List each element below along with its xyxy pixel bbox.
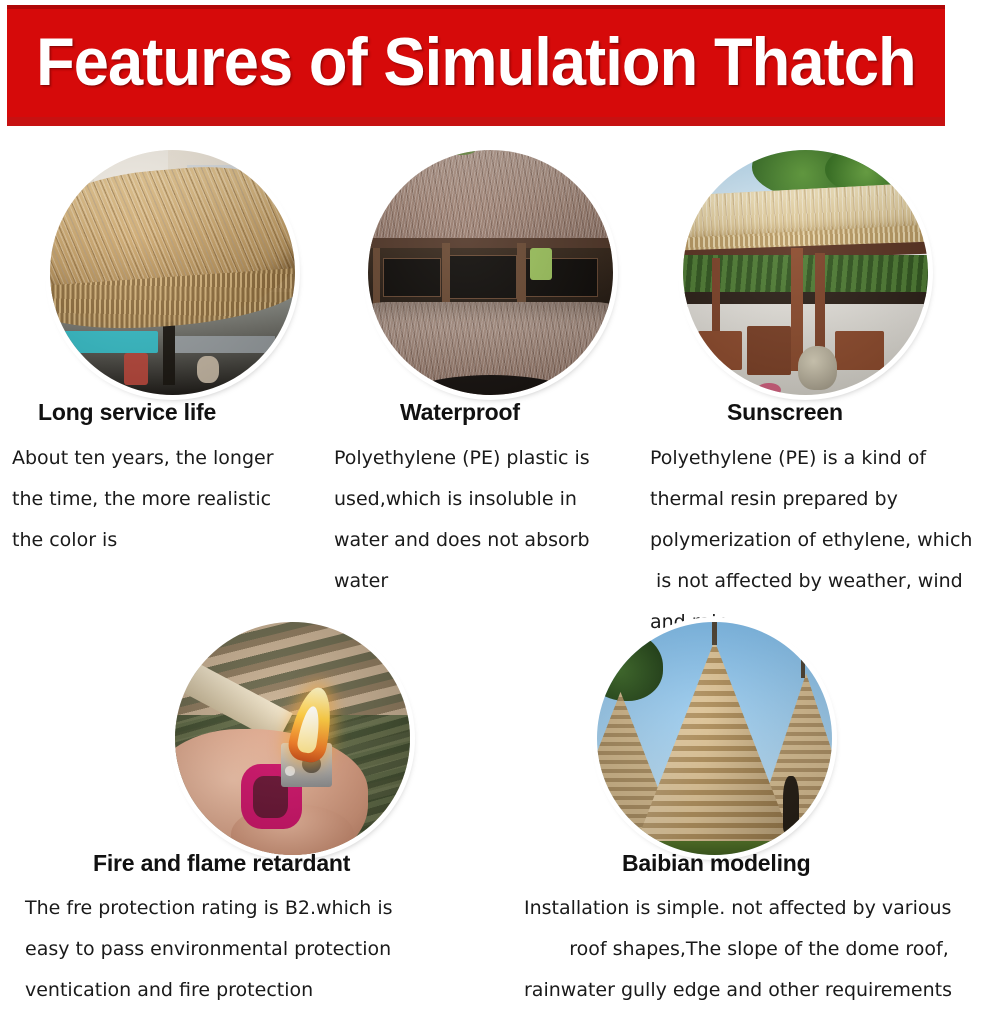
feature-line: the time, the more realistic (12, 479, 322, 520)
photo-conical-thatched-huts (597, 622, 832, 855)
feature-line: polymerization of ethylene, which (650, 520, 992, 561)
feature-line: rainwater gully edge and other requireme… (524, 970, 992, 1011)
header-banner: Features of Simulation Thatch (7, 5, 945, 126)
features-poster: Features of Simulation Thatch Long se (0, 0, 992, 1012)
feature-line: thermal resin prepared by (650, 479, 992, 520)
feature-title-baibian-modeling: Baibian modeling (622, 850, 810, 877)
feature-line: water and does not absorb (334, 520, 644, 561)
feature-line: used,which is insoluble in (334, 479, 644, 520)
feature-image-sunscreen (683, 150, 928, 395)
feature-title-fire-and-flame-retardant: Fire and flame retardant (93, 850, 350, 877)
feature-image-baibian-modeling (597, 622, 832, 855)
feature-line: the color is (12, 520, 322, 561)
feature-body-waterproof: Polyethylene (PE) plastic is used,which … (334, 438, 644, 602)
feature-line: water (334, 561, 644, 602)
feature-title-waterproof: Waterproof (400, 399, 520, 426)
photo-palapa-thatch-roof (50, 150, 295, 395)
feature-image-fire-and-flame-retardant (175, 622, 410, 855)
feature-line: Polyethylene (PE) is a kind of (650, 438, 992, 479)
page-title: Features of Simulation Thatch (36, 28, 916, 96)
header-banner-inner: Features of Simulation Thatch (7, 9, 945, 117)
feature-line: is not affected by weather, wind (650, 561, 992, 602)
feature-image-long-service-life (50, 150, 295, 395)
feature-image-waterproof (368, 150, 613, 395)
feature-line: Installation is simple. not affected by … (524, 888, 992, 929)
feature-line: roof shapes,The slope of the dome roof, (524, 929, 992, 970)
feature-line: easy to pass environmental protection (25, 929, 475, 970)
photo-thatched-wooden-house (368, 150, 613, 395)
feature-line: Polyethylene (PE) plastic is (334, 438, 644, 479)
feature-line: ventication and fire protection (25, 970, 475, 1011)
photo-lighter-flame-test (175, 622, 410, 855)
feature-title-sunscreen: Sunscreen (727, 399, 843, 426)
feature-body-sunscreen: Polyethylene (PE) is a kind of thermal r… (650, 438, 992, 643)
feature-line: The fre protection rating is B2.which is (25, 888, 475, 929)
feature-body-baibian-modeling: Installation is simple. not affected by … (524, 888, 992, 1011)
feature-title-long-service-life: Long service life (38, 399, 216, 426)
photo-thatched-pergola (683, 150, 928, 395)
feature-body-long-service-life: About ten years, the longer the time, th… (12, 438, 322, 561)
feature-line: About ten years, the longer (12, 438, 322, 479)
feature-body-fire-and-flame-retardant: The fre protection rating is B2.which is… (25, 888, 475, 1011)
